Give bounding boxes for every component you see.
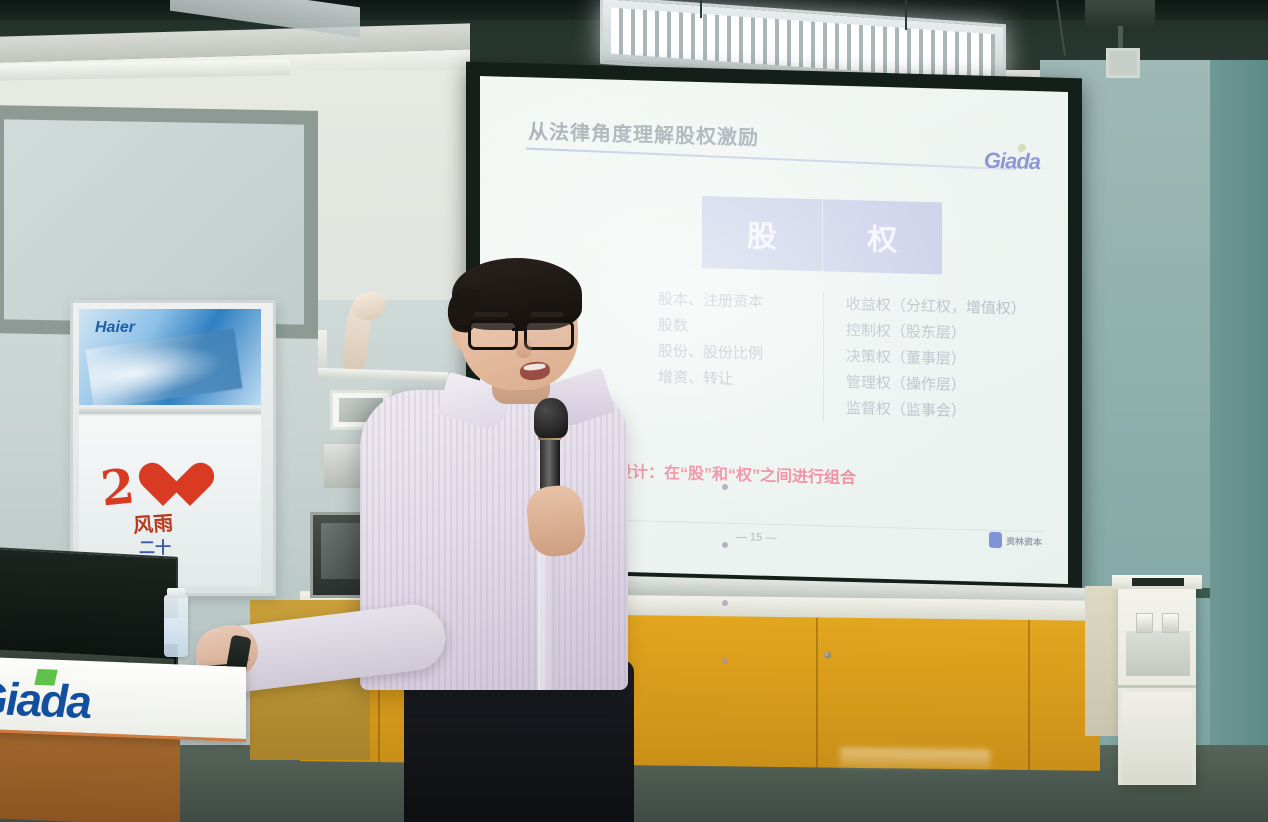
fridge-water-graphic <box>86 329 243 405</box>
cabinet-seam <box>816 617 818 767</box>
water-dispenser-taps <box>1132 613 1184 631</box>
tap-hot[interactable] <box>1136 613 1153 633</box>
footer-logo-text: 资林资本 <box>1006 534 1042 548</box>
content-columns: 股本、注册资本 股数 股份、股份比例 增资、转让 收益权（分红权，增值权） 控制… <box>650 287 1060 428</box>
presentation-photo-scene: 从法律角度理解股权激励 Giada 股 权 股本、注册资本 股数 股份、股份比例… <box>0 0 1268 822</box>
glasses-bridge <box>512 328 524 331</box>
speaker-teeth <box>523 363 546 371</box>
giada-logo-slide: Giada <box>984 148 1040 176</box>
shirt-button <box>722 542 728 548</box>
tap-cold[interactable] <box>1162 613 1179 633</box>
footer-logo-icon <box>989 532 1002 548</box>
water-dispenser-body <box>1122 692 1192 784</box>
speaker-eyebrow-right <box>530 312 564 317</box>
podium-sign: Giada <box>0 657 246 742</box>
haier-brand-label: Haier <box>95 319 135 337</box>
fridge-divider <box>79 407 261 414</box>
right-column: 收益权（分红权，增值权） 控制权（股东层） 决策权（董事层） 管理权（操作层） … <box>824 291 1060 427</box>
cabinet-knob[interactable] <box>824 652 831 659</box>
cabinet-seam <box>1028 620 1030 770</box>
light-hanger-wire <box>905 0 907 30</box>
water-dispenser-recess <box>1126 631 1190 676</box>
slide-footer-logo: 资林资本 <box>989 532 1042 549</box>
left-column: 股本、注册资本 股数 股份、股份比例 增资、转让 <box>650 287 824 422</box>
projector-clip <box>1106 48 1140 78</box>
slide-page-number: — 15 — <box>736 531 776 544</box>
water-bottle-cap <box>167 588 185 598</box>
left-item: 增资、转让 <box>658 365 815 395</box>
speaker-eyebrow-left <box>474 312 508 317</box>
header-cell-quan: 权 <box>822 199 943 274</box>
slide-title-rule <box>526 147 1016 170</box>
heart-icon <box>137 464 189 512</box>
giada-leaf-icon <box>1017 143 1027 153</box>
speaker-hand-holding-mic <box>524 483 587 558</box>
microphone-head <box>534 398 568 438</box>
light-hanger-wire <box>700 0 702 18</box>
shirt-button <box>722 484 728 490</box>
water-dispenser-panel <box>1132 578 1184 586</box>
cabinet-scuff <box>840 748 990 770</box>
header-cells-row: 股 权 <box>702 196 942 274</box>
water-dispenser-seam <box>1118 685 1196 688</box>
glasses-lens-left <box>468 320 518 350</box>
speaker-nose <box>516 336 532 358</box>
water-bottle <box>164 595 188 657</box>
wall-right-corner <box>1210 60 1268 760</box>
shirt-button <box>722 600 728 606</box>
fridge-top-panel: Haier <box>79 309 261 405</box>
slide-title: 从法律角度理解股权激励 <box>528 115 759 150</box>
shirt-button <box>722 658 728 664</box>
haier-refrigerator: Haier 2 风雨 二十 <box>70 300 276 596</box>
header-cell-gu: 股 <box>702 196 822 271</box>
giada-accent-icon <box>34 669 57 686</box>
right-item: 监督权（监事会） <box>846 396 1052 428</box>
